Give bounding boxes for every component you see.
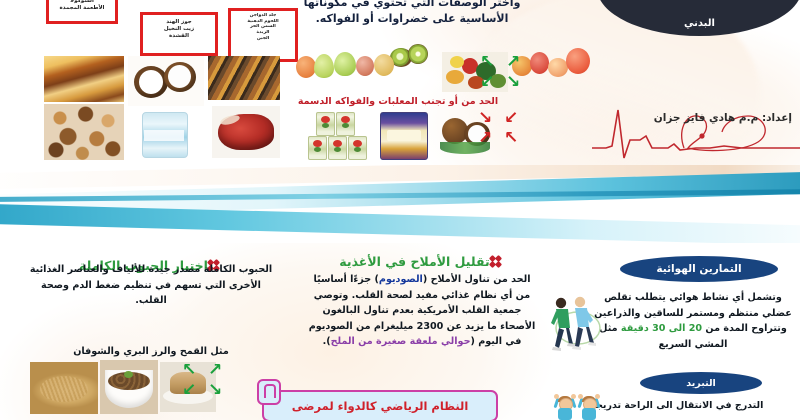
child-hand-right [595,394,600,399]
arrow-up-left-icon: ↖ [182,362,196,379]
top-paragraph: في الثلاجة للوجبات الخفيفة السريعة. واخت… [296,0,528,28]
reduce-salt-title: تقليل الأملاح في الأغذية [306,254,538,269]
arrow-up-right-icon: ↗ [478,130,492,147]
fruit-pear-green-2 [334,52,356,76]
callout-corner-tab [257,379,281,405]
mixed-nuts-snack-image [44,104,124,160]
can-label-band [144,130,184,141]
red-box-line: جوز الهند [143,19,215,26]
child-figure-left [554,392,576,420]
arrow-down-right-icon: ↘ [478,110,492,127]
burger-and-fries-image [44,56,124,102]
runner-a-torso [556,309,570,328]
kiwi-slice-image [408,44,428,64]
author-credit: إعداد: م.م هادي فايز جزان [654,112,792,124]
veg-carrot [446,70,464,84]
runner-b-shoe-back [572,346,581,350]
arrow-down-right-icon: ↘ [208,382,222,399]
wheat-bread-slice-image [30,362,98,414]
aerobic-exercise-pill: التمارين الهوائية [620,256,778,282]
expand-arrows-green-bottom: ↖ ↗ ↙ ↘ [182,362,228,404]
arrow-up-left-icon: ↖ [480,54,494,71]
fruit-peach [548,58,568,77]
arrow-up-right-icon: ↗ [208,362,222,379]
coconut-halves-image [128,56,204,106]
infographic-page: البدني (السكر) الوجبات السريعة الحلويات … [0,0,800,420]
steak-fat-marbling [219,113,240,126]
arrow-down-right-icon: ↘ [506,74,520,91]
fruit-nectarine [566,48,590,74]
arrow-down-left-icon: ↙ [480,74,494,91]
coconut-half-right [164,62,196,92]
child-figure-right [578,392,600,420]
grilled-meat-skewers-image [208,56,280,100]
two-children-arms-raised-image [554,392,608,420]
red-box-sugar: (السكر) الوجبات السريعة الحلويات الشوكول… [46,0,118,24]
aerobic-body: وتشمل أي نشاط هوائي يتطلب تقلص عضلي منتظ… [592,290,794,352]
approx-teaspoon-highlight: حوالي ملعقة صغيرة من الملح [331,336,471,347]
red-box-animal-fats: جلد الدواجن اللحوم الدهنية السمن الحر ال… [228,8,298,62]
red-box-line: السمن الحر [231,24,295,29]
child-body [558,408,572,420]
runner-a-head [556,298,566,308]
salt-body-part-3: ). [323,336,331,347]
runner-b-head [575,297,585,307]
arrow-up-left-icon: ↖ [504,130,518,147]
raw-steak-image [212,106,280,158]
red-box-coconut-palm: جوز الهند زيت النخيل القشدة [140,12,218,56]
whole-grains-examples: مثل القمح والرز البري والشوفان [26,344,276,360]
child-body [582,408,596,420]
steak-shape [218,114,274,150]
fruit-apricot [296,56,316,78]
salt-body-part-1: الحد من تناول الأملاح ( [423,274,531,285]
can-item [348,136,367,160]
runner-a-shoe-back [552,347,561,351]
canned-goods-stack-image [308,112,368,160]
grain-bowl-image [100,360,158,414]
fruit-pear-green [314,54,334,78]
fruit-plum [356,56,374,76]
ecg-heart-doodle [592,96,800,166]
red-box-line: الزبدة [231,30,295,35]
red-box-line: زيت النخيل [143,26,215,33]
collapse-arrows-red-top: ↘ ↙ ↗ ↖ [478,110,524,152]
heart-dot [699,133,704,138]
avoid-canned-caption: الحد من أو تجنب المعلبات والفواكه الدسمة [292,96,504,107]
arrow-up-right-icon: ↗ [506,54,520,71]
sodium-highlight: الصوديوم [379,274,423,285]
whole-grains-body: الحبوب الكاملة مصدر جيدة للألياف والعناص… [26,262,276,309]
reduce-salt-body: الحد من تناول الأملاح (الصوديوم) جزءًا أ… [306,272,538,350]
can-body [142,112,188,158]
coconut-milk-can-image [132,108,196,160]
red-box-line: جلد الدواجن [231,13,295,18]
top-panel: البدني (السكر) الوجبات السريعة الحلويات … [0,0,800,172]
navy-title-text: البدني [597,18,800,29]
arrow-down-left-icon: ↙ [504,110,518,127]
sports-as-medicine-callout[interactable]: النظام الرياضي كالدواء لمرضى [262,390,498,420]
red-box-line: القشدة [143,33,215,40]
can-item [316,112,335,136]
cooldown-title-text: التبريد [686,378,716,389]
red-box-line: الأطعمة المجمدة [49,5,115,12]
divider-band [0,165,800,243]
band-cyan-swoosh-lower [0,203,800,243]
cooldown-pill: التبريد [640,372,762,394]
fruit-quince [374,54,394,76]
aerobic-title-text: التمارين الهوائية [656,263,741,275]
red-box-line: الشوكولا [49,0,115,4]
arrow-down-left-icon: ↙ [182,382,196,399]
herb-garnish [124,371,133,378]
red-box-line: الجبن [231,36,295,41]
fruit-apple-red [530,52,549,74]
two-runners-image [548,292,612,356]
can-item [336,112,355,136]
runner-b-leg-front [586,327,594,344]
aerobic-duration-highlight: 20 الى 30 دقيقة [621,323,702,334]
can-label [387,130,421,141]
large-canned-food-image [380,112,428,160]
runner-b-shoe-front [588,342,596,346]
expand-arrows-green-top: ↖ ↗ ↙ ↘ [480,54,526,96]
diamond-bullet-icon [490,256,501,267]
reduce-salt-title-text: تقليل الأملاح في الأغذية [339,254,489,269]
child-hand-right [571,394,576,399]
veg-corn [450,56,464,68]
callout-text: النظام الرياضي كالدواء لمرضى [292,399,469,413]
coconut-half-left [134,66,168,98]
can-item [328,136,347,160]
can-item [308,136,327,160]
